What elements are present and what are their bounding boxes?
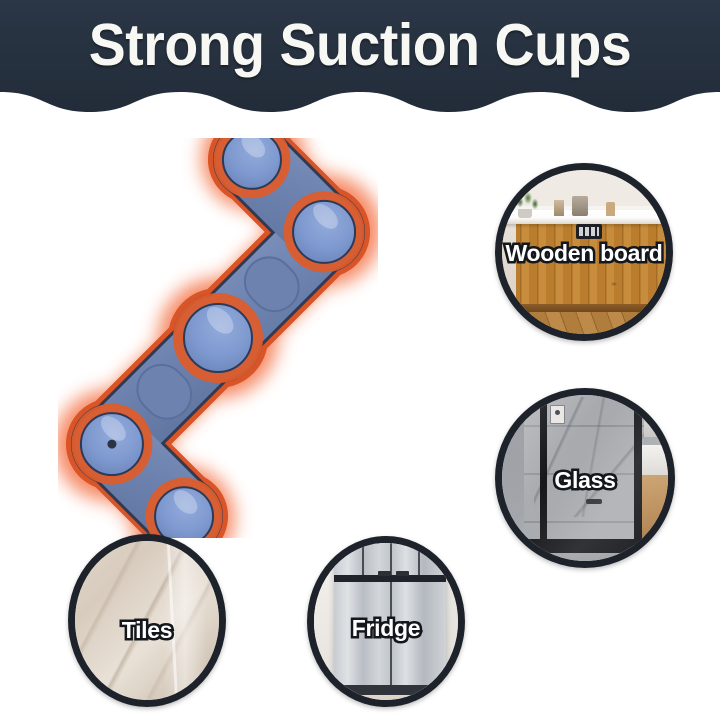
surface-label-fridge: Fridge xyxy=(314,615,458,642)
wall-switch-icon xyxy=(576,224,602,239)
suction-cup-device-graphic xyxy=(58,138,378,538)
product-image xyxy=(58,138,378,538)
surface-label-wooden-board: Wooden board xyxy=(502,240,666,267)
page-title: Strong Suction Cups xyxy=(22,8,699,82)
surface-card-tiles[interactable]: Tiles xyxy=(68,534,226,707)
product-infographic-page: Strong Suction Cups xyxy=(0,0,720,716)
surface-card-wooden-board[interactable]: Wooden board xyxy=(495,163,673,341)
surface-label-glass: Glass xyxy=(502,467,668,494)
header-banner: Strong Suction Cups xyxy=(0,0,720,126)
surface-card-glass[interactable]: Glass xyxy=(495,388,675,568)
surface-label-tiles: Tiles xyxy=(75,617,219,644)
surface-card-fridge[interactable]: Fridge xyxy=(307,536,465,707)
